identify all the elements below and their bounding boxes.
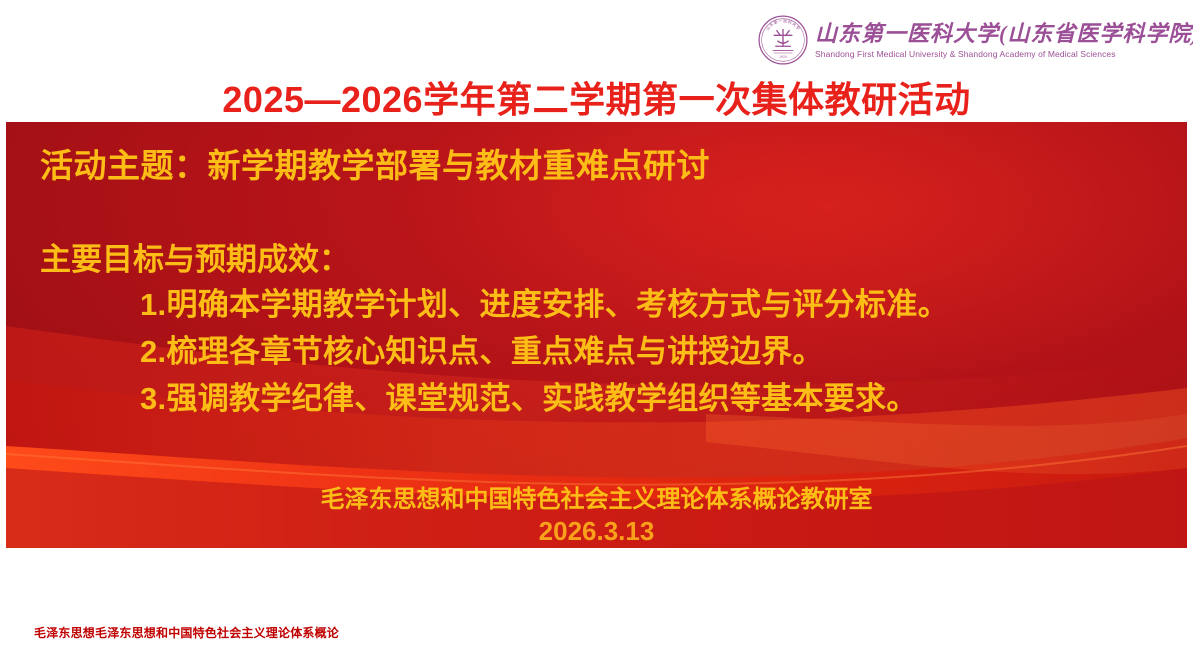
university-logo: 山东第一医科大学 1915 山东第一医科大学(山东省: [757, 14, 1193, 66]
university-emblem-icon: 山东第一医科大学 1915: [757, 14, 809, 66]
department-name: 毛泽东思想和中国特色社会主义理论体系概论教研室: [0, 479, 1193, 514]
svg-text:1915: 1915: [779, 55, 787, 59]
goals-heading: 主要目标与预期成效：: [40, 234, 350, 279]
activity-topic: 活动主题：新学期教学部署与教材重难点研讨: [40, 139, 710, 187]
slide-canvas: 山东第一医科大学 1915 山东第一医科大学(山东省: [0, 0, 1193, 670]
slide-footer-text: 毛泽东思想毛泽东思想和中国特色社会主义理论体系概论: [34, 624, 339, 641]
slide-header: 山东第一医科大学 1915 山东第一医科大学(山东省: [0, 0, 1193, 122]
goal-item: 3.强调教学纪律、课堂规范、实践教学组织等基本要求。: [140, 375, 949, 422]
university-name-en: Shandong First Medical University & Shan…: [815, 49, 1193, 59]
goal-item: 1.明确本学期教学计划、进度安排、考核方式与评分标准。: [140, 281, 949, 328]
goal-item: 2.梳理各章节核心知识点、重点难点与讲授边界。: [140, 328, 949, 375]
slide-main-title: 2025—2026学年第二学期第一次集体教研活动: [0, 71, 1193, 123]
university-name-cn: 山东第一医科大学(山东省医学科学院): [815, 21, 1193, 46]
university-logo-text: 山东第一医科大学(山东省医学科学院) Shandong First Medica…: [815, 21, 1193, 59]
goals-list: 1.明确本学期教学计划、进度安排、考核方式与评分标准。 2.梳理各章节核心知识点…: [140, 281, 949, 422]
activity-date: 2026.3.13: [0, 516, 1193, 547]
